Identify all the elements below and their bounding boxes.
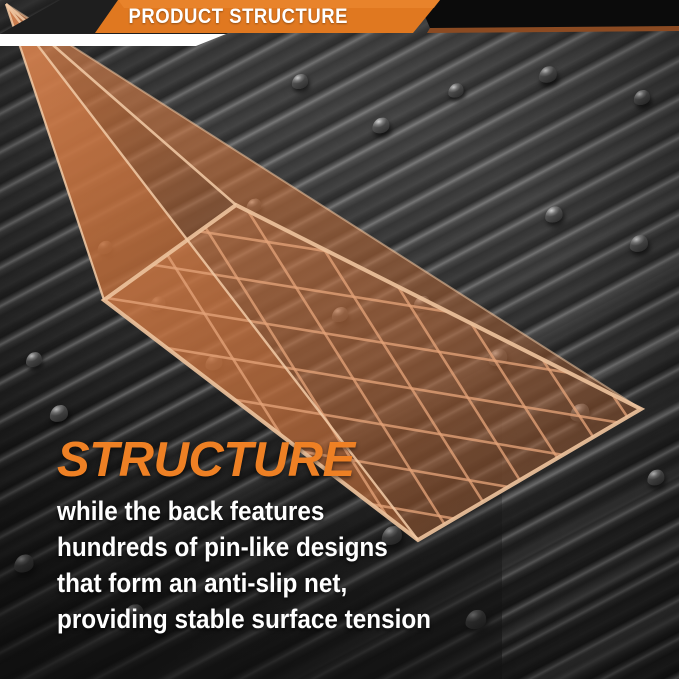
pin-stud — [26, 351, 43, 368]
caption-block: STRUCTURE while the back features hundre… — [57, 436, 477, 638]
product-structure-poster: PRODUCT STRUCTURE STRUCTURE while the ba… — [0, 0, 679, 679]
caption-line-4: providing stable surface tension — [57, 602, 435, 638]
pin-stud — [205, 354, 223, 372]
caption-line-3: that form an anti-slip net, — [57, 566, 435, 602]
pin-stud — [538, 66, 557, 84]
pin-stud — [331, 306, 348, 323]
pin-stud — [246, 198, 262, 213]
pin-stud — [570, 403, 591, 422]
pin-stud — [633, 89, 650, 106]
pin-stud — [647, 469, 665, 486]
caption-line-2: hundreds of pin-like designs — [57, 530, 435, 566]
pin-stud — [372, 117, 391, 134]
pin-stud — [13, 554, 34, 574]
caption-line-1: while the back features — [57, 494, 435, 530]
pin-stud — [150, 296, 166, 312]
pin-stud — [488, 348, 508, 367]
pin-stud — [413, 295, 431, 312]
pin-stud — [49, 404, 68, 423]
pin-stud — [97, 240, 113, 255]
pin-stud — [629, 234, 649, 252]
pin-stud — [545, 206, 564, 224]
caption-headline: STRUCTURE — [57, 436, 477, 485]
pin-stud — [448, 82, 464, 98]
pin-stud — [291, 73, 308, 90]
